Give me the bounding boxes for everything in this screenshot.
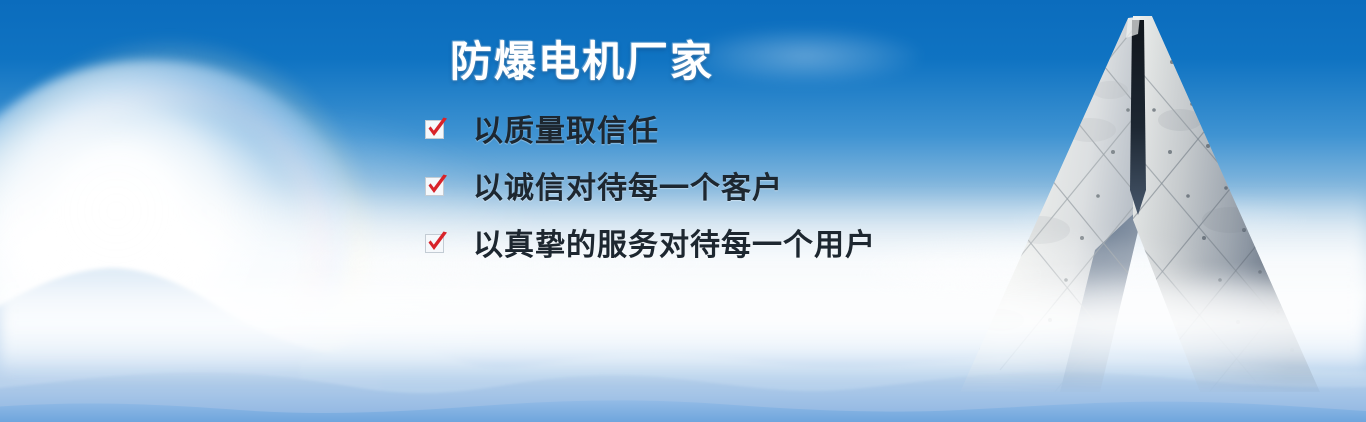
red-check-icon [424,230,449,255]
list-item-label: 以诚信对待每一个客户 [473,163,783,207]
list-item: 以诚信对待每一个客户 [424,163,876,207]
red-check-icon [424,173,449,198]
promotional-banner: 防爆电机厂家 以质量取信任 以诚信对待每一个客户 [0,0,1366,422]
page-title: 防爆电机厂家 [450,28,714,89]
list-item-label: 以质量取信任 [473,106,659,150]
red-check-icon [424,116,449,141]
list-item: 以质量取信任 [424,106,876,150]
list-item-label: 以真挚的服务对待每一个用户 [473,220,876,264]
selling-points-list: 以质量取信任 以诚信对待每一个客户 以真挚的服务对待每一个用户 [424,106,876,277]
list-item: 以真挚的服务对待每一个用户 [424,220,876,264]
monument-slot [1130,20,1146,215]
ground-mist [0,268,1366,378]
